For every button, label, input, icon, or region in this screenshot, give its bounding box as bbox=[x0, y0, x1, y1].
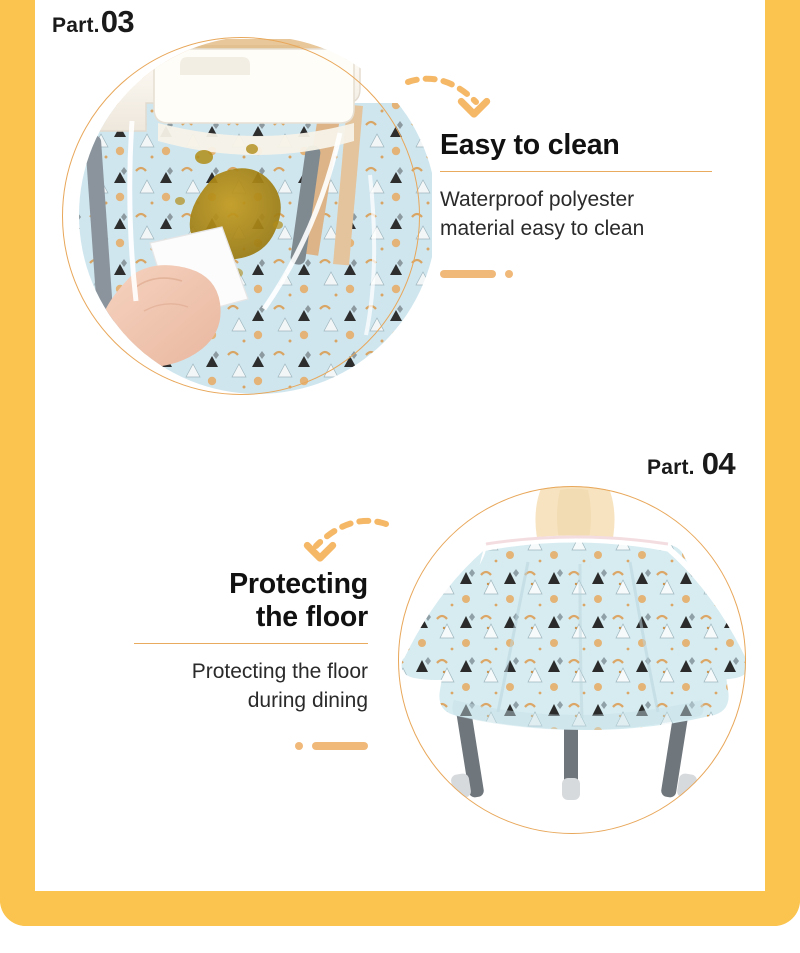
photo-protecting-the-floor bbox=[390, 478, 765, 842]
decoration-pill-dot bbox=[440, 270, 730, 278]
text-block-easy-to-clean: Easy to clean Waterproof polyester mater… bbox=[440, 129, 730, 278]
photo-easy-to-clean bbox=[40, 25, 432, 407]
frame-border-bottom bbox=[0, 891, 800, 926]
subtext-easy-to-clean: Waterproof polyester material easy to cl… bbox=[440, 186, 730, 244]
heading-rule bbox=[134, 643, 368, 644]
heading-rule bbox=[440, 171, 712, 172]
dashed-arrow-down-right-icon bbox=[404, 62, 504, 118]
decoration-dot bbox=[295, 742, 303, 750]
decoration-dot bbox=[505, 270, 513, 278]
subtext-line-1: Protecting the floor bbox=[134, 658, 368, 687]
subtext-protecting-the-floor: Protecting the floor during dining bbox=[134, 658, 368, 716]
heading-protecting-the-floor: Protecting the floor bbox=[134, 568, 368, 634]
heading-line-1: Protecting bbox=[134, 568, 368, 601]
text-block-protecting-the-floor: Protecting the floor Protecting the floo… bbox=[134, 568, 368, 750]
dashed-arrow-down-left-icon bbox=[286, 504, 390, 564]
decoration-dot-pill bbox=[134, 742, 368, 750]
subtext-line-2: during dining bbox=[134, 687, 368, 716]
frame-border-left bbox=[0, 0, 35, 926]
part-label-04: Part. 04 bbox=[647, 446, 735, 482]
subtext-line-1: Waterproof polyester bbox=[440, 186, 730, 215]
part-label-04-word: Part. bbox=[647, 456, 695, 480]
part-label-04-number: 04 bbox=[702, 446, 735, 482]
decoration-pill bbox=[440, 270, 496, 278]
frame-border-right bbox=[765, 0, 800, 926]
decoration-pill bbox=[312, 742, 368, 750]
subtext-line-2: material easy to clean bbox=[440, 215, 730, 244]
heading-easy-to-clean: Easy to clean bbox=[440, 129, 730, 162]
heading-line-2: the floor bbox=[134, 601, 368, 634]
